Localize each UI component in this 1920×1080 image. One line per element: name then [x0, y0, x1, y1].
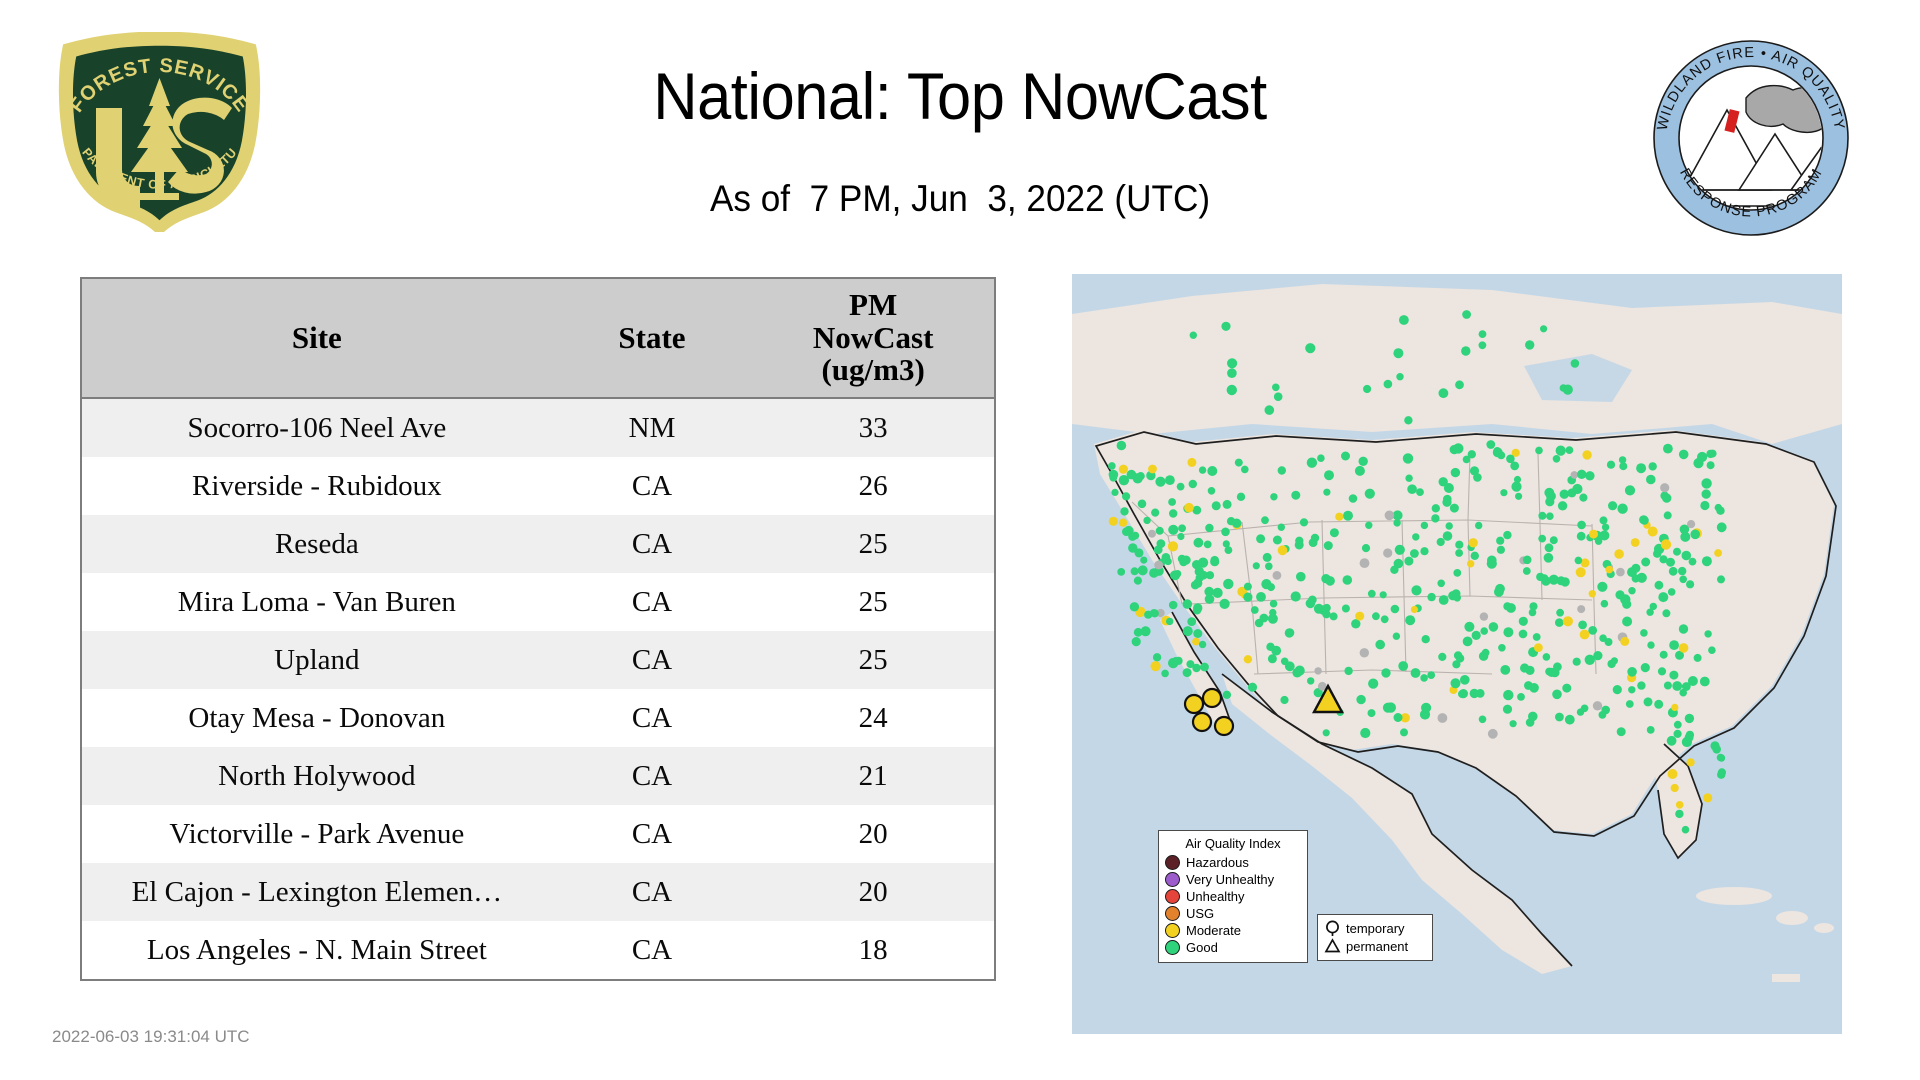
monitor-dot[interactable]: [1619, 456, 1626, 463]
monitor-dot[interactable]: [1360, 648, 1369, 657]
monitor-dot[interactable]: [1517, 693, 1525, 701]
monitor-dot[interactable]: [1323, 489, 1330, 496]
monitor-dot[interactable]: [1685, 733, 1694, 742]
monitor-dot[interactable]: [1606, 566, 1614, 574]
monitor-dot[interactable]: [1280, 696, 1288, 704]
monitor-dot[interactable]: [1545, 543, 1554, 552]
monitor-dot[interactable]: [1248, 683, 1257, 692]
monitor-dot[interactable]: [1177, 533, 1184, 540]
monitor-dot[interactable]: [1716, 507, 1724, 515]
monitor-dot[interactable]: [1500, 665, 1510, 675]
monitor-dot[interactable]: [1140, 557, 1147, 564]
monitor-dot[interactable]: [1608, 501, 1617, 510]
monitor-dot[interactable]: [1617, 504, 1627, 514]
monitor-dot[interactable]: [1362, 544, 1370, 552]
monitor-dot[interactable]: [1682, 826, 1690, 834]
monitor-dot[interactable]: [1411, 606, 1418, 613]
monitor-dot[interactable]: [1360, 728, 1370, 738]
monitor-dot[interactable]: [1439, 477, 1448, 486]
monitor-dot[interactable]: [1489, 622, 1499, 632]
monitor-dot[interactable]: [1151, 509, 1159, 517]
monitor-dot[interactable]: [1589, 590, 1596, 597]
monitor-dot[interactable]: [1685, 714, 1694, 723]
monitor-dot[interactable]: [1704, 630, 1711, 637]
monitor-dot[interactable]: [1528, 712, 1538, 722]
monitor-dot[interactable]: [1223, 540, 1230, 547]
monitor-dot[interactable]: [1410, 549, 1419, 558]
monitor-dot[interactable]: [1273, 536, 1282, 545]
monitor-dot[interactable]: [1641, 558, 1650, 567]
monitor-dot[interactable]: [1403, 453, 1413, 463]
monitor-dot[interactable]: [1686, 580, 1694, 588]
monitor-dot[interactable]: [1368, 590, 1376, 598]
monitor-dot[interactable]: [1324, 470, 1334, 480]
monitor-dot[interactable]: [1700, 677, 1710, 687]
monitor-dot[interactable]: [1553, 455, 1561, 463]
monitor-dot[interactable]: [1420, 709, 1430, 719]
monitor-dot[interactable]: [1674, 730, 1682, 738]
monitor-dot[interactable]: [1117, 441, 1127, 451]
monitor-dot[interactable]: [1187, 617, 1196, 626]
monitor-dot[interactable]: [1497, 546, 1505, 554]
monitor-dot[interactable]: [1342, 605, 1350, 613]
monitor-dot[interactable]: [1668, 769, 1678, 779]
monitor-dot[interactable]: [1148, 530, 1156, 538]
monitor-dot[interactable]: [1405, 475, 1412, 482]
monitor-dot[interactable]: [1183, 599, 1193, 609]
monitor-dot[interactable]: [1671, 784, 1679, 792]
monitor-dot[interactable]: [1461, 346, 1470, 355]
monitor-dot[interactable]: [1641, 663, 1650, 672]
monitor-dot[interactable]: [1572, 484, 1582, 494]
monitor-dot[interactable]: [1193, 629, 1202, 638]
monitor-dot[interactable]: [1614, 549, 1624, 559]
monitor-dot[interactable]: [1717, 575, 1725, 583]
monitor-dot[interactable]: [1510, 720, 1517, 727]
monitor-dot[interactable]: [1560, 577, 1569, 586]
monitor-dot[interactable]: [1268, 614, 1278, 624]
table-row[interactable]: Mira Loma - Van BurenCA25: [82, 573, 994, 631]
monitor-dot[interactable]: [1420, 547, 1428, 555]
monitor-dot[interactable]: [1261, 516, 1269, 524]
monitor-dot[interactable]: [1183, 626, 1193, 636]
monitor-dot[interactable]: [1223, 579, 1233, 589]
monitor-dot[interactable]: [1486, 440, 1495, 449]
monitor-dot[interactable]: [1451, 679, 1458, 686]
monitor-dot[interactable]: [1359, 457, 1368, 466]
monitor-dot[interactable]: [1148, 465, 1157, 474]
monitor-dot[interactable]: [1620, 637, 1629, 646]
monitor-dot[interactable]: [1278, 466, 1286, 474]
monitor-dot[interactable]: [1446, 522, 1453, 529]
monitor-dot[interactable]: [1476, 689, 1485, 698]
monitor-dot[interactable]: [1330, 528, 1339, 537]
monitor-dot[interactable]: [1138, 565, 1148, 575]
monitor-dot[interactable]: [1206, 571, 1214, 579]
monitor-dot[interactable]: [1309, 538, 1318, 547]
monitor-dot[interactable]: [1278, 545, 1288, 555]
monitor-dot[interactable]: [1227, 517, 1235, 525]
monitor-dot[interactable]: [1416, 488, 1424, 496]
monitor-dot[interactable]: [1648, 527, 1658, 537]
monitor-dot[interactable]: [1503, 602, 1511, 610]
monitor-dot[interactable]: [1383, 703, 1393, 713]
monitor-dot[interactable]: [1660, 483, 1669, 492]
monitor-dot[interactable]: [1662, 493, 1671, 502]
monitor-dot[interactable]: [1296, 572, 1306, 582]
monitor-dot[interactable]: [1411, 585, 1421, 595]
monitor-dot[interactable]: [1165, 475, 1175, 485]
monitor-dot[interactable]: [1546, 512, 1554, 520]
monitor-dot[interactable]: [1661, 539, 1671, 549]
monitor-dot[interactable]: [1482, 649, 1490, 657]
monitor-dot[interactable]: [1571, 471, 1579, 479]
monitor-dot[interactable]: [1198, 558, 1208, 568]
monitor-dot[interactable]: [1244, 583, 1252, 591]
monitor-dot[interactable]: [1343, 575, 1353, 585]
monitor-dot[interactable]: [1168, 658, 1178, 668]
monitor-dot[interactable]: [1452, 660, 1460, 668]
monitor-dot[interactable]: [1455, 549, 1463, 557]
monitor-dot[interactable]: [1341, 452, 1350, 461]
monitor-dot[interactable]: [1138, 500, 1147, 509]
monitor-dot[interactable]: [1558, 501, 1567, 510]
monitor-dot[interactable]: [1690, 530, 1700, 540]
table-row[interactable]: El Cajon - Lexington Elemen…CA20: [82, 863, 994, 921]
monitor-dot[interactable]: [1394, 559, 1404, 569]
monitor-dot[interactable]: [1122, 492, 1130, 500]
monitor-dot[interactable]: [1192, 638, 1200, 646]
monitor-dot[interactable]: [1582, 450, 1591, 459]
monitor-dot[interactable]: [1544, 553, 1554, 563]
monitor-dot[interactable]: [1278, 524, 1285, 531]
monitor-dot[interactable]: [1322, 610, 1330, 618]
monitor-dot[interactable]: [1637, 573, 1647, 583]
monitor-dot[interactable]: [1178, 555, 1186, 563]
monitor-dot[interactable]: [1560, 490, 1569, 499]
monitor-dot[interactable]: [1626, 700, 1634, 708]
monitor-dot[interactable]: [1599, 711, 1607, 719]
monitor-dot[interactable]: [1459, 689, 1468, 698]
monitor-dot[interactable]: [1717, 771, 1725, 779]
monitor-dot[interactable]: [1599, 634, 1607, 642]
monitor-dot[interactable]: [1534, 643, 1543, 652]
monitor-dot[interactable]: [1480, 612, 1488, 620]
monitor-dot[interactable]: [1155, 477, 1165, 487]
monitor-dot[interactable]: [1427, 593, 1435, 601]
monitor-dot[interactable]: [1193, 603, 1202, 612]
monitor-dot[interactable]: [1487, 556, 1497, 566]
monitor-dot[interactable]: [1227, 368, 1237, 378]
monitor-dot[interactable]: [1463, 456, 1471, 464]
monitor-dot[interactable]: [1368, 679, 1378, 689]
monitor-dot[interactable]: [1506, 455, 1515, 464]
monitor-dot[interactable]: [1718, 754, 1725, 761]
monitor-dot[interactable]: [1529, 683, 1539, 693]
monitor-dot[interactable]: [1437, 538, 1445, 546]
monitor-dot[interactable]: [1375, 640, 1385, 650]
monitor-dot[interactable]: [1213, 588, 1223, 598]
monitor-dot[interactable]: [1393, 348, 1403, 358]
monitor-dot[interactable]: [1307, 677, 1314, 684]
monitor-dot[interactable]: [1438, 713, 1448, 723]
monitor-dot[interactable]: [1317, 454, 1325, 462]
monitor-dot[interactable]: [1687, 520, 1695, 528]
monitor-dot[interactable]: [1235, 459, 1243, 467]
monitor-dot[interactable]: [1307, 458, 1317, 468]
monitor-dot[interactable]: [1463, 637, 1473, 647]
monitor-dot[interactable]: [1581, 705, 1589, 713]
monitor-dot[interactable]: [1221, 322, 1230, 331]
monitor-dot[interactable]: [1622, 617, 1632, 627]
monitor-dot[interactable]: [1119, 519, 1127, 527]
monitor-dot[interactable]: [1187, 458, 1196, 467]
monitor-dot[interactable]: [1251, 606, 1259, 614]
monitor-dot[interactable]: [1127, 470, 1137, 480]
monitor-dot[interactable]: [1700, 501, 1709, 510]
monitor-dot[interactable]: [1646, 475, 1656, 485]
monitor-dot[interactable]: [1503, 627, 1513, 637]
monitor-dot[interactable]: [1575, 557, 1583, 565]
monitor-dot[interactable]: [1464, 622, 1474, 632]
monitor-dot[interactable]: [1576, 567, 1586, 577]
monitor-dot[interactable]: [1360, 558, 1370, 568]
monitor-dot[interactable]: [1372, 612, 1380, 620]
monitor-dot[interactable]: [1523, 556, 1532, 565]
monitor-dot[interactable]: [1178, 524, 1186, 532]
monitor-dot[interactable]: [1664, 511, 1672, 519]
monitor-dot[interactable]: [1183, 668, 1192, 677]
monitor-dot[interactable]: [1628, 587, 1635, 594]
monitor-dot[interactable]: [1291, 591, 1301, 601]
monitor-dot[interactable]: [1503, 690, 1513, 700]
monitor-dot[interactable]: [1439, 595, 1449, 605]
monitor-dot[interactable]: [1196, 574, 1204, 582]
monitor-dot[interactable]: [1701, 478, 1711, 488]
monitor-dot[interactable]: [1628, 686, 1635, 693]
monitor-dot[interactable]: [1365, 489, 1375, 499]
monitor-dot[interactable]: [1637, 681, 1645, 689]
monitor-dot[interactable]: [1109, 470, 1119, 480]
monitor-dot[interactable]: [1679, 576, 1687, 584]
monitor-dot[interactable]: [1617, 727, 1626, 736]
monitor-dot[interactable]: [1707, 461, 1715, 469]
table-row[interactable]: Los Angeles - N. Main StreetCA18: [82, 921, 994, 979]
monitor-dot[interactable]: [1394, 713, 1403, 722]
monitor-dot[interactable]: [1703, 793, 1712, 802]
monitor-dot[interactable]: [1580, 630, 1590, 640]
monitor-dot[interactable]: [1220, 599, 1230, 609]
monitor-dot[interactable]: [1343, 511, 1353, 521]
monitor-dot[interactable]: [1308, 596, 1317, 605]
monitor-dot[interactable]: [1455, 541, 1463, 549]
monitor-dot[interactable]: [1500, 489, 1507, 496]
monitor-dot[interactable]: [1607, 461, 1615, 469]
monitor-dot[interactable]: [1119, 465, 1128, 474]
monitor-dot[interactable]: [1407, 484, 1417, 494]
table-row[interactable]: Socorro-106 Neel AveNM33: [82, 398, 994, 457]
monitor-dot[interactable]: [1393, 519, 1400, 526]
monitor-dot[interactable]: [1640, 629, 1648, 637]
monitor-dot[interactable]: [1205, 594, 1215, 604]
monitor-dot[interactable]: [1221, 528, 1230, 537]
monitor-dot[interactable]: [1543, 653, 1551, 661]
monitor-dot[interactable]: [1117, 568, 1125, 576]
monitor-dot[interactable]: [1161, 670, 1169, 678]
monitor-dot[interactable]: [1676, 801, 1684, 809]
monitor-dot[interactable]: [1191, 581, 1200, 590]
monitor-dot[interactable]: [1314, 667, 1321, 674]
monitor-dot[interactable]: [1385, 511, 1395, 521]
monitor-dot[interactable]: [1679, 643, 1689, 653]
monitor-dot[interactable]: [1400, 728, 1408, 736]
monitor-dot[interactable]: [1381, 615, 1389, 623]
monitor-dot[interactable]: [1602, 524, 1609, 531]
monitor-dot[interactable]: [1622, 600, 1631, 609]
table-row[interactable]: ResedaCA25: [82, 515, 994, 573]
monitor-dot[interactable]: [1497, 451, 1505, 459]
monitor-dot[interactable]: [1383, 548, 1392, 557]
monitor-dot[interactable]: [1613, 685, 1622, 694]
table-row[interactable]: Otay Mesa - DonovanCA24: [82, 689, 994, 747]
monitor-dot[interactable]: [1431, 514, 1439, 522]
monitor-dot[interactable]: [1398, 661, 1408, 671]
monitor-dot[interactable]: [1265, 563, 1273, 571]
monitor-dot[interactable]: [1330, 612, 1338, 620]
monitor-dot[interactable]: [1669, 640, 1679, 650]
monitor-dot[interactable]: [1194, 538, 1204, 548]
monitor-dot[interactable]: [1344, 667, 1352, 675]
monitor-dot[interactable]: [1660, 651, 1668, 659]
monitor-dot[interactable]: [1519, 617, 1528, 626]
monitor-dot[interactable]: [1593, 701, 1602, 710]
monitor-dot[interactable]: [1577, 605, 1585, 613]
monitor-dot[interactable]: [1585, 655, 1595, 665]
monitor-dot[interactable]: [1503, 705, 1512, 714]
monitor-dot[interactable]: [1562, 684, 1571, 693]
monitor-dot[interactable]: [1427, 671, 1435, 679]
monitor-dot[interactable]: [1272, 384, 1280, 392]
monitor-dot[interactable]: [1538, 512, 1546, 520]
monitor-dot[interactable]: [1550, 536, 1558, 544]
monitor-dot[interactable]: [1544, 488, 1554, 498]
monitor-dot[interactable]: [1210, 557, 1219, 566]
monitor-dot[interactable]: [1647, 641, 1654, 648]
monitor-dot[interactable]: [1706, 450, 1714, 458]
monitor-dot[interactable]: [1404, 416, 1412, 424]
monitor-dot[interactable]: [1137, 472, 1145, 480]
monitor-dot[interactable]: [1227, 385, 1237, 395]
monitor-dot[interactable]: [1255, 619, 1264, 628]
monitor-dot[interactable]: [1169, 509, 1177, 517]
monitor-dot[interactable]: [1649, 462, 1657, 470]
monitor-dot[interactable]: [1324, 541, 1333, 550]
table-row[interactable]: North HolywoodCA21: [82, 747, 994, 805]
monitor-dot[interactable]: [1601, 600, 1609, 608]
monitor-dot[interactable]: [1384, 380, 1393, 389]
monitor-dot[interactable]: [1631, 538, 1640, 547]
monitor-dot[interactable]: [1689, 558, 1697, 566]
monitor-dot[interactable]: [1200, 663, 1209, 672]
monitor-dot[interactable]: [1460, 675, 1470, 685]
monitor-dot[interactable]: [1208, 487, 1216, 495]
monitor-dot[interactable]: [1663, 444, 1673, 454]
monitor-dot[interactable]: [1639, 515, 1648, 524]
monitor-dot[interactable]: [1535, 447, 1543, 455]
monitor-dot[interactable]: [1577, 532, 1586, 541]
monitor-dot[interactable]: [1566, 446, 1574, 454]
monitor-dot[interactable]: [1668, 588, 1676, 596]
monitor-dot[interactable]: [1669, 567, 1678, 576]
monitor-dot[interactable]: [1227, 358, 1237, 368]
monitor-dot[interactable]: [1552, 690, 1562, 700]
monitor-dot[interactable]: [1679, 450, 1689, 460]
monitor-dot[interactable]: [1453, 594, 1461, 602]
monitor-dot[interactable]: [1168, 525, 1178, 535]
monitor-dot[interactable]: [1611, 657, 1618, 664]
monitor-dot[interactable]: [1130, 602, 1139, 611]
monitor-dot[interactable]: [1355, 466, 1365, 476]
monitor-dot[interactable]: [1678, 567, 1686, 575]
monitor-dot[interactable]: [1547, 668, 1556, 677]
monitor-dot[interactable]: [1270, 493, 1277, 500]
monitor-dot[interactable]: [1658, 667, 1666, 675]
monitor-dot[interactable]: [1157, 539, 1166, 548]
monitor-dot[interactable]: [1190, 332, 1197, 339]
monitor-dot[interactable]: [1132, 532, 1140, 540]
monitor-dot[interactable]: [1223, 500, 1232, 509]
monitor-dot[interactable]: [1515, 493, 1522, 500]
monitor-dot[interactable]: [1710, 741, 1719, 750]
monitor-dot[interactable]: [1399, 315, 1409, 325]
monitor-dot[interactable]: [1237, 493, 1245, 501]
monitor-dot[interactable]: [1451, 468, 1460, 477]
monitor-dot[interactable]: [1323, 729, 1330, 736]
table-row[interactable]: Riverside - RubidouxCA26: [82, 457, 994, 515]
monitor-dot[interactable]: [1184, 503, 1194, 513]
monitor-dot[interactable]: [1150, 609, 1158, 617]
monitor-dot[interactable]: [1256, 592, 1266, 602]
monitor-dot[interactable]: [1480, 627, 1488, 635]
monitor-dot[interactable]: [1523, 567, 1531, 575]
monitor-dot[interactable]: [1356, 695, 1365, 704]
monitor-dot[interactable]: [1655, 581, 1664, 590]
monitor-dot[interactable]: [1321, 574, 1330, 583]
monitor-dot[interactable]: [1368, 709, 1376, 717]
monitor-dot[interactable]: [1404, 557, 1413, 566]
monitor-dot[interactable]: [1494, 587, 1504, 597]
monitor-dot[interactable]: [1563, 616, 1573, 626]
table-row[interactable]: UplandCA25: [82, 631, 994, 689]
monitor-dot[interactable]: [1189, 480, 1197, 488]
monitor-dot[interactable]: [1636, 463, 1646, 473]
monitor-dot[interactable]: [1270, 600, 1278, 608]
monitor-dot[interactable]: [1439, 388, 1449, 398]
monitor-dot[interactable]: [1503, 531, 1511, 539]
monitor-dot[interactable]: [1186, 660, 1194, 668]
monitor-dot[interactable]: [1479, 341, 1487, 349]
table-row[interactable]: Victorville - Park AvenueCA20: [82, 805, 994, 863]
monitor-dot[interactable]: [1717, 522, 1727, 532]
monitor-dot[interactable]: [1540, 325, 1547, 332]
monitor-dot[interactable]: [1422, 635, 1430, 643]
monitor-dot[interactable]: [1545, 497, 1554, 506]
monitor-dot[interactable]: [1525, 340, 1534, 349]
monitor-dot[interactable]: [1453, 569, 1461, 577]
monitor-dot[interactable]: [1579, 494, 1587, 502]
monitor-dot[interactable]: [1479, 716, 1487, 724]
monitor-dot[interactable]: [1154, 561, 1163, 570]
